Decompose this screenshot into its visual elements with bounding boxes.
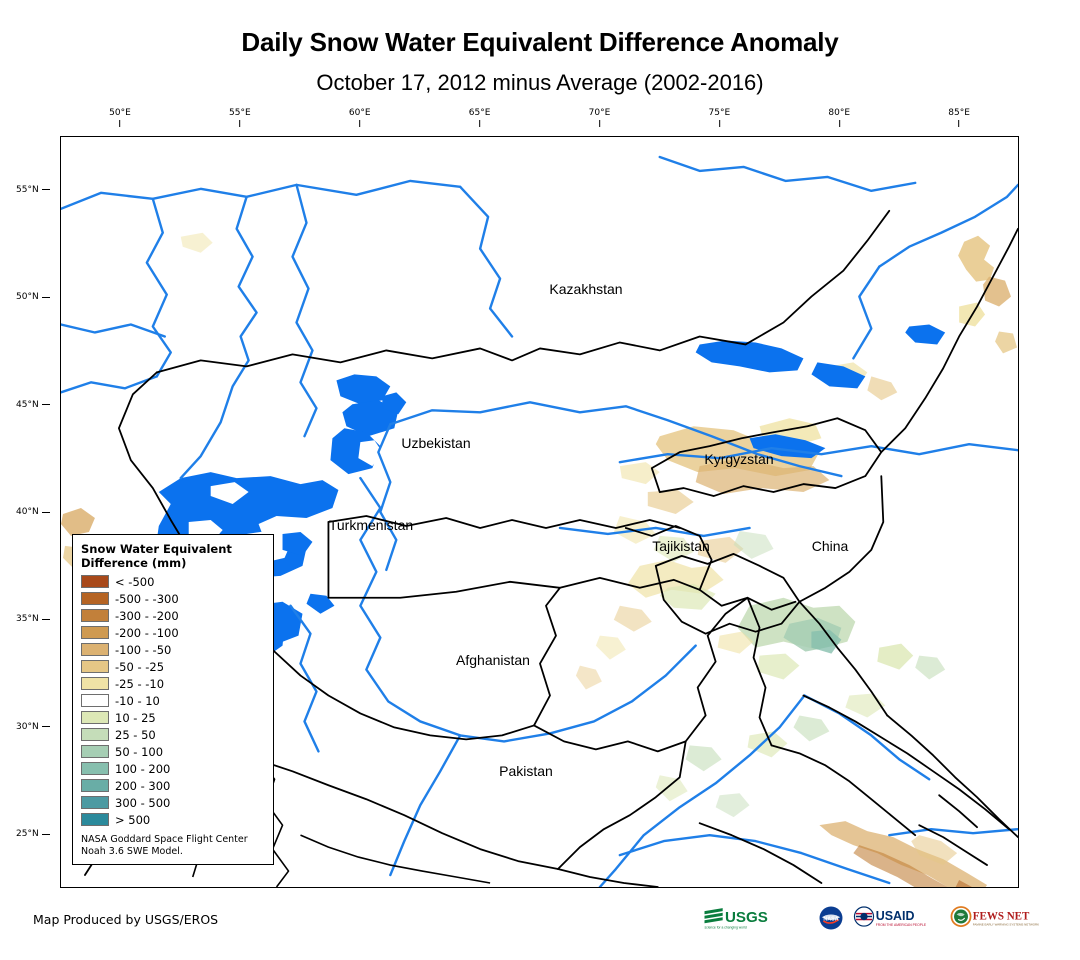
tick-mark xyxy=(839,120,840,127)
longitude-tick-label: 70°E xyxy=(589,108,611,118)
fewsnet-logo[interactable]: FEWS NET FAMINE EARLY WARNING SYSTEMS NE… xyxy=(950,905,1044,931)
tick-mark xyxy=(42,834,50,835)
legend-label: 50 - 100 xyxy=(115,745,163,759)
legend-source: NASA Goddard Space Flight Center Noah 3.… xyxy=(81,834,265,858)
legend-swatch xyxy=(81,762,109,775)
legend-swatch xyxy=(81,643,109,656)
legend-swatch xyxy=(81,677,109,690)
legend-swatch xyxy=(81,728,109,741)
tick-mark xyxy=(42,512,50,513)
tick-mark xyxy=(599,120,600,127)
legend-title-line1: Snow Water Equivalent xyxy=(81,542,265,556)
legend-label: -200 - -100 xyxy=(115,626,179,640)
legend-swatch xyxy=(81,813,109,826)
longitude-tick: 65°E xyxy=(469,108,491,127)
legend-row: -300 - -200 xyxy=(81,607,265,624)
svg-text:science for a changing world: science for a changing world xyxy=(705,926,747,930)
longitude-tick: 55°E xyxy=(229,108,251,127)
legend-row: 50 - 100 xyxy=(81,743,265,760)
svg-text:NASA: NASA xyxy=(823,916,838,922)
longitude-tick: 60°E xyxy=(349,108,371,127)
latitude-tick: 25°N xyxy=(16,829,50,839)
longitude-tick: 70°E xyxy=(589,108,611,127)
legend-swatch xyxy=(81,694,109,707)
longitude-tick-label: 80°E xyxy=(828,108,850,118)
latitude-tick-label: 25°N xyxy=(16,829,39,839)
legend-row: 200 - 300 xyxy=(81,777,265,794)
legend-label: -100 - -50 xyxy=(115,643,171,657)
svg-text:FAMINE EARLY WARNING SYSTEMS N: FAMINE EARLY WARNING SYSTEMS NETWORK xyxy=(973,922,1039,926)
tick-mark xyxy=(239,120,240,127)
legend-label: 300 - 500 xyxy=(115,796,170,810)
legend-label: 200 - 300 xyxy=(115,779,170,793)
longitude-tick: 85°E xyxy=(948,108,970,127)
longitude-tick-label: 85°E xyxy=(948,108,970,118)
legend-swatch xyxy=(81,745,109,758)
tick-mark xyxy=(42,726,50,727)
legend-row: -25 - -10 xyxy=(81,675,265,692)
legend-rows: < -500-500 - -300-300 - -200-200 - -100-… xyxy=(81,573,265,828)
legend-row: -50 - -25 xyxy=(81,658,265,675)
tick-mark xyxy=(719,120,720,127)
legend-swatch xyxy=(81,711,109,724)
tick-mark xyxy=(42,297,50,298)
tick-mark xyxy=(42,404,50,405)
legend-row: -500 - -300 xyxy=(81,590,265,607)
title-block: Daily Snow Water Equivalent Difference A… xyxy=(0,0,1080,95)
longitude-tick: 75°E xyxy=(708,108,730,127)
latitude-tick: 55°N xyxy=(16,185,50,195)
logo-bar: USGS science for a changing world NASA U… xyxy=(703,903,1044,933)
page-title: Daily Snow Water Equivalent Difference A… xyxy=(0,28,1080,57)
legend-row: -10 - 10 xyxy=(81,692,265,709)
legend-label: < -500 xyxy=(115,575,154,589)
legend-label: 25 - 50 xyxy=(115,728,156,742)
legend-source-line1: NASA Goddard Space Flight Center xyxy=(81,834,265,846)
tick-mark xyxy=(359,120,360,127)
legend-row: < -500 xyxy=(81,573,265,590)
svg-text:FROM THE AMERICAN PEOPLE: FROM THE AMERICAN PEOPLE xyxy=(876,923,927,927)
longitude-tick-label: 50°E xyxy=(109,108,131,118)
legend-title-line2: Difference (mm) xyxy=(81,556,265,570)
legend-row: 100 - 200 xyxy=(81,760,265,777)
longitude-tick: 50°E xyxy=(109,108,131,127)
map-legend: Snow Water Equivalent Difference (mm) < … xyxy=(72,534,274,865)
longitude-tick-label: 75°E xyxy=(708,108,730,118)
tick-mark xyxy=(42,189,50,190)
legend-label: > 500 xyxy=(115,813,150,827)
legend-row: > 500 xyxy=(81,811,265,828)
svg-text:USAID: USAID xyxy=(876,909,915,923)
legend-label: -300 - -200 xyxy=(115,609,179,623)
legend-swatch xyxy=(81,796,109,809)
legend-swatch xyxy=(81,779,109,792)
latitude-tick-label: 45°N xyxy=(16,400,39,410)
latitude-tick-label: 35°N xyxy=(16,614,39,624)
legend-label: 10 - 25 xyxy=(115,711,156,725)
usaid-logo[interactable]: USAID FROM THE AMERICAN PEOPLE xyxy=(853,905,941,931)
latitude-tick-label: 50°N xyxy=(16,292,39,302)
longitude-tick-label: 65°E xyxy=(469,108,491,118)
usgs-logo[interactable]: USGS science for a changing world xyxy=(703,905,809,931)
legend-label: -500 - -300 xyxy=(115,592,179,606)
longitude-tick: 80°E xyxy=(828,108,850,127)
legend-row: 25 - 50 xyxy=(81,726,265,743)
latitude-tick: 45°N xyxy=(16,400,50,410)
legend-label: -25 - -10 xyxy=(115,677,164,691)
latitude-tick: 30°N xyxy=(16,722,50,732)
legend-row: -100 - -50 xyxy=(81,641,265,658)
latitude-tick: 35°N xyxy=(16,614,50,624)
footer-credit: Map Produced by USGS/EROS xyxy=(33,912,218,927)
latitude-tick-label: 30°N xyxy=(16,722,39,732)
legend-swatch xyxy=(81,575,109,588)
legend-title: Snow Water Equivalent Difference (mm) xyxy=(81,542,265,570)
legend-swatch xyxy=(81,626,109,639)
longitude-tick-label: 55°E xyxy=(229,108,251,118)
nasa-logo[interactable]: NASA xyxy=(818,905,844,931)
latitude-tick: 50°N xyxy=(16,292,50,302)
legend-swatch xyxy=(81,609,109,622)
legend-label: 100 - 200 xyxy=(115,762,170,776)
legend-row: 300 - 500 xyxy=(81,794,265,811)
page-subtitle: October 17, 2012 minus Average (2002-201… xyxy=(0,71,1080,95)
legend-row: -200 - -100 xyxy=(81,624,265,641)
legend-label: -10 - 10 xyxy=(115,694,160,708)
tick-mark xyxy=(42,619,50,620)
legend-swatch xyxy=(81,660,109,673)
latitude-tick: 40°N xyxy=(16,507,50,517)
tick-mark xyxy=(479,120,480,127)
tick-mark xyxy=(119,120,120,127)
svg-text:FEWS NET: FEWS NET xyxy=(973,910,1030,922)
longitude-tick-label: 60°E xyxy=(349,108,371,118)
legend-swatch xyxy=(81,592,109,605)
legend-source-line2: Noah 3.6 SWE Model. xyxy=(81,846,265,858)
legend-row: 10 - 25 xyxy=(81,709,265,726)
latitude-tick-label: 40°N xyxy=(16,507,39,517)
legend-label: -50 - -25 xyxy=(115,660,164,674)
svg-text:USGS: USGS xyxy=(725,909,768,926)
latitude-tick-label: 55°N xyxy=(16,185,39,195)
tick-mark xyxy=(959,120,960,127)
